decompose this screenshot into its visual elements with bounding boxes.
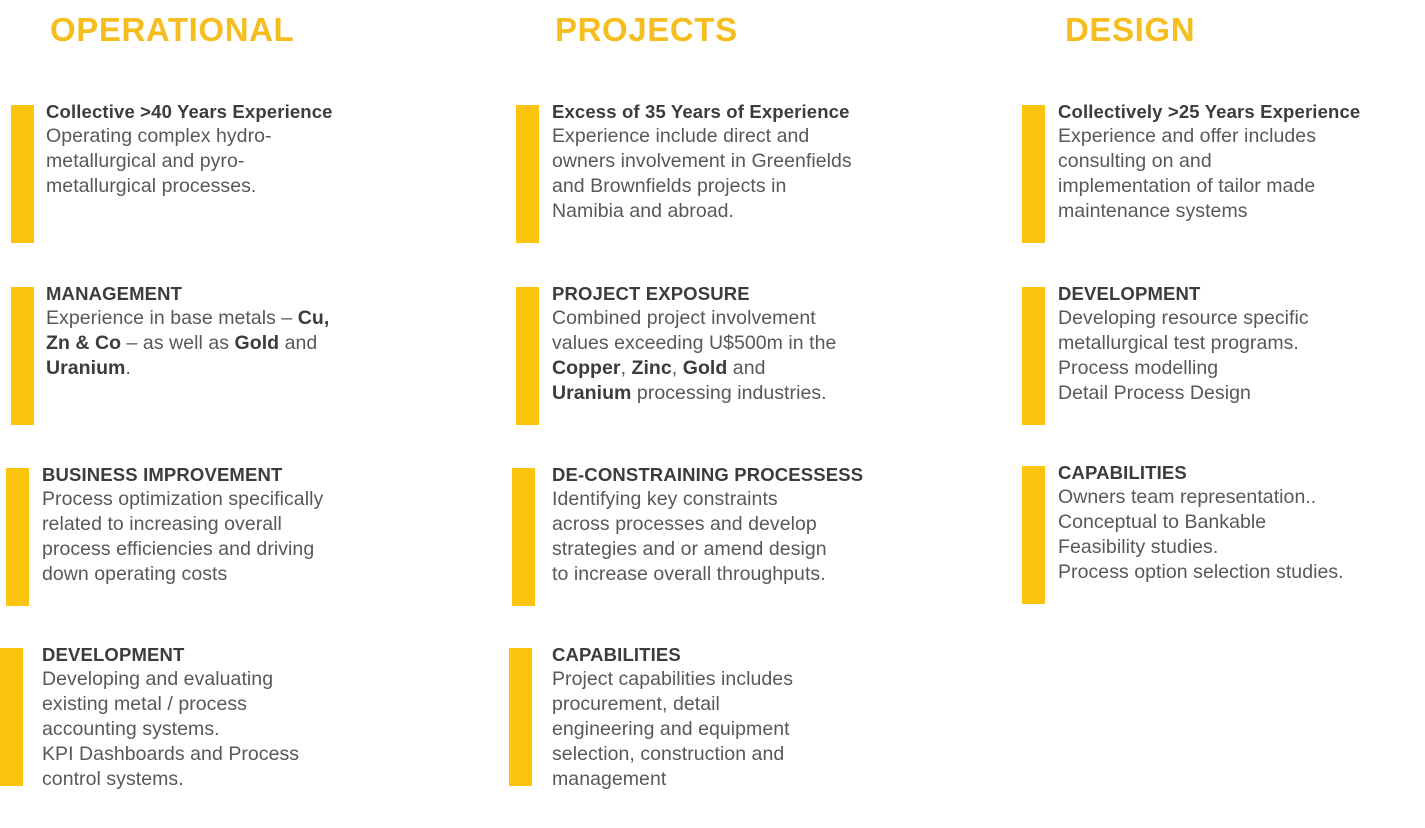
accent-bar: [1022, 287, 1045, 425]
body-line: strategies and or amend design: [552, 538, 827, 560]
list-item-text: Collective >40 Years Experience Operatin…: [46, 99, 406, 199]
column-projects: PROJECTS Excess of 35 Years of Experienc…: [505, 0, 1010, 828]
body-line: Namibia and abroad.: [552, 200, 734, 222]
body-line: procurement, detail: [552, 693, 720, 715]
list-item-heading: CAPABILITIES: [1058, 460, 1425, 485]
list-item-heading: Excess of 35 Years of Experience: [552, 99, 952, 124]
body-line: maintenance systems: [1058, 200, 1248, 222]
capabilities-infographic: OPERATIONAL Collective >40 Years Experie…: [0, 0, 1425, 828]
body-line: owners involvement in Greenfields: [552, 150, 852, 172]
body-line: metallurgical and pyro-: [46, 150, 244, 172]
list-item-heading: BUSINESS IMPROVEMENT: [42, 462, 412, 487]
list-item-heading: DEVELOPMENT: [1058, 281, 1425, 306]
list-item-body: Experience and offer includes consulting…: [1058, 124, 1425, 224]
column-title-operational: OPERATIONAL: [50, 8, 294, 52]
body-line: Feasibility studies.: [1058, 536, 1218, 558]
list-item-body: Experience in base metals – Cu, Zn & Co …: [46, 306, 406, 381]
list-item-text: Excess of 35 Years of Experience Experie…: [552, 99, 952, 224]
list-item-text: Collectively >25 Years Experience Experi…: [1058, 99, 1425, 224]
body-line: Combined project involvement: [552, 307, 816, 329]
bold-term: Cu,: [298, 307, 330, 329]
accent-bar: [0, 648, 23, 786]
list-item-body: Developing and evaluating existing metal…: [42, 667, 412, 792]
list-item-heading: Collectively >25 Years Experience: [1058, 99, 1425, 124]
body-line: accounting systems.: [42, 718, 220, 740]
list-item-text: CAPABILITIES Owners team representation.…: [1058, 460, 1425, 585]
body-line: management: [552, 768, 666, 790]
body-line: Experience and offer includes: [1058, 125, 1316, 147]
body-line: process efficiencies and driving: [42, 538, 314, 560]
bold-term: Copper: [552, 357, 621, 379]
body-line: Process option selection studies.: [1058, 561, 1344, 583]
column-title-projects: PROJECTS: [555, 8, 738, 52]
body-line: related to increasing overall: [42, 513, 282, 535]
body-line: consulting on and: [1058, 150, 1212, 172]
body-line: metallurgical processes.: [46, 175, 256, 197]
accent-bar: [512, 468, 535, 606]
body-line: across processes and develop: [552, 513, 817, 535]
body-line: metallurgical test programs.: [1058, 332, 1299, 354]
list-item-body: Experience include direct and owners inv…: [552, 124, 952, 224]
list-item-body: Process optimization specifically relate…: [42, 487, 412, 587]
body-line: selection, construction and: [552, 743, 784, 765]
accent-bar: [1022, 105, 1045, 243]
column-title-design: DESIGN: [1065, 8, 1195, 52]
accent-bar: [509, 648, 532, 786]
list-item-text: BUSINESS IMPROVEMENT Process optimizatio…: [42, 462, 412, 587]
list-item-text: MANAGEMENT Experience in base metals – C…: [46, 281, 406, 381]
body-line: KPI Dashboards and Process: [42, 743, 299, 765]
list-item-heading: DEVELOPMENT: [42, 642, 412, 667]
body-line: Experience include direct and: [552, 125, 809, 147]
column-operational: OPERATIONAL Collective >40 Years Experie…: [0, 0, 500, 828]
list-item-text: DE-CONSTRAINING PROCESSESS Identifying k…: [552, 462, 952, 587]
list-item-body: Identifying key constraints across proce…: [552, 487, 952, 587]
body-line: existing metal / process: [42, 693, 247, 715]
body-line: Process modelling: [1058, 357, 1218, 379]
list-item-body: Operating complex hydro- metallurgical a…: [46, 124, 406, 199]
accent-bar: [11, 105, 34, 243]
body-line: values exceeding U$500m in the: [552, 332, 836, 354]
body-line: Developing resource specific: [1058, 307, 1309, 329]
bold-term: Gold: [235, 332, 280, 354]
accent-bar: [1022, 466, 1045, 604]
list-item-heading: PROJECT EXPOSURE: [552, 281, 952, 306]
body-line: Detail Process Design: [1058, 382, 1251, 404]
body-line: Conceptual to Bankable: [1058, 511, 1266, 533]
body-line: and Brownfields projects in: [552, 175, 786, 197]
list-item-text: CAPABILITIES Project capabilities includ…: [552, 642, 952, 792]
list-item-heading: DE-CONSTRAINING PROCESSESS: [552, 462, 952, 487]
accent-bar: [516, 105, 539, 243]
list-item-heading: MANAGEMENT: [46, 281, 406, 306]
list-item-body: Project capabilities includes procuremen…: [552, 667, 952, 792]
body-line: implementation of tailor made: [1058, 175, 1315, 197]
column-design: DESIGN Collectively >25 Years Experience…: [1015, 0, 1425, 828]
body-line: Project capabilities includes: [552, 668, 793, 690]
list-item-body: Combined project involvement values exce…: [552, 306, 952, 406]
bold-term: Gold: [683, 357, 728, 379]
body-line: Process optimization specifically: [42, 488, 323, 510]
body-line: to increase overall throughputs.: [552, 563, 826, 585]
body-line: Operating complex hydro-: [46, 125, 272, 147]
list-item-text: DEVELOPMENT Developing resource specific…: [1058, 281, 1425, 406]
accent-bar: [6, 468, 29, 606]
list-item-heading: Collective >40 Years Experience: [46, 99, 406, 124]
bold-term: Uranium: [552, 382, 631, 404]
bold-term: Zn & Co: [46, 332, 121, 354]
list-item-body: Owners team representation.. Conceptual …: [1058, 485, 1425, 585]
body-line: Developing and evaluating: [42, 668, 273, 690]
accent-bar: [11, 287, 34, 425]
bold-term: Zinc: [632, 357, 672, 379]
body-line: Owners team representation..: [1058, 486, 1316, 508]
bold-term: Uranium: [46, 357, 125, 379]
list-item-text: PROJECT EXPOSURE Combined project involv…: [552, 281, 952, 406]
body-line: Identifying key constraints: [552, 488, 778, 510]
body-line: down operating costs: [42, 563, 227, 585]
body-line: control systems.: [42, 768, 184, 790]
list-item-text: DEVELOPMENT Developing and evaluating ex…: [42, 642, 412, 792]
accent-bar: [516, 287, 539, 425]
list-item-body: Developing resource specific metallurgic…: [1058, 306, 1425, 406]
list-item-heading: CAPABILITIES: [552, 642, 952, 667]
body-line: engineering and equipment: [552, 718, 790, 740]
